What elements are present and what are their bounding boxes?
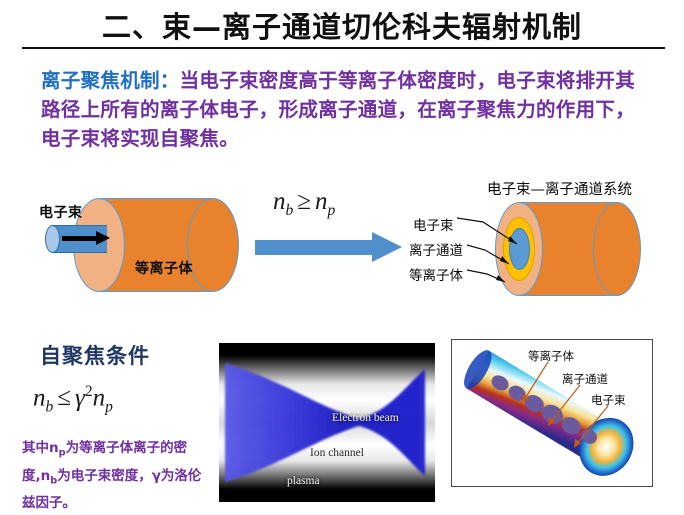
- tube-label-plasma: 等离子体: [528, 348, 574, 364]
- selffocus-gamma-symbol: γ: [75, 384, 85, 411]
- right-arrow-icon: [255, 232, 410, 262]
- selffocus-formula: nb≤γ2np: [33, 383, 113, 416]
- electron-beam-cap: [45, 225, 60, 253]
- title-divider: [22, 47, 665, 49]
- formula-sub-p: p: [327, 202, 335, 219]
- page-title: 二、束—离子通道切伦科夫辐射机制: [0, 4, 684, 46]
- figure-beam-into-plasma: 等离子体 电子束: [25, 180, 275, 310]
- figure-3d-ion-channel-tube: 等离子体 离子通道 电子束: [451, 339, 653, 487]
- system-label-plasma: 等离子体: [409, 264, 463, 284]
- note-part-1: 其中n: [22, 440, 59, 456]
- ring-electron-beam-core: [509, 228, 530, 270]
- figure-beam-ion-channel-system: 电子束—离子通道系统 电子束 离子通道 等离子体: [405, 178, 675, 313]
- system-label-electron-beam: 电子束: [413, 214, 454, 234]
- arrow-shaft: [255, 240, 373, 255]
- selffocus-operator: ≤: [53, 384, 75, 411]
- simulation-label-ion-channel: Ion channel: [310, 447, 364, 459]
- condition-and-arrow-group: nb≥np: [255, 188, 415, 268]
- system-label-ion-channel: 离子通道: [409, 239, 463, 259]
- density-condition-formula: nb≥np: [273, 188, 335, 220]
- plasma-label: 等离子体: [135, 258, 193, 278]
- mechanism-lead-label: 离子聚焦机制：: [41, 69, 180, 92]
- selffocus-exponent: 2: [85, 383, 93, 400]
- simulation-electron-beam: [219, 343, 435, 502]
- selffocus-heading: 自聚焦条件: [40, 340, 150, 370]
- plasma-cylinder-right-cap: [187, 198, 239, 292]
- arrow-head: [372, 232, 402, 262]
- simulation-label-plasma: plasma: [287, 475, 320, 487]
- formula-n-b-symbol: n: [273, 188, 286, 215]
- beam-direction-arrow-shaft: [62, 236, 100, 241]
- mechanism-paragraph: 离子聚焦机制：当电子束密度高于等离子体密度时，电子束将排开其路径上所有的离子体电…: [41, 66, 653, 153]
- beam-direction-arrow-icon: [96, 231, 110, 245]
- selffocus-n-b-symbol: n: [33, 384, 46, 411]
- figure-beam-simulation: Electron beam Ion channel plasma: [219, 343, 435, 502]
- tube-label-ion-channel: 离子通道: [562, 371, 608, 387]
- simulation-label-electron-beam: Electron beam: [332, 412, 399, 424]
- selffocus-sub-p: p: [105, 398, 113, 415]
- selffocus-n-p-symbol: n: [93, 384, 106, 411]
- tube-label-electron-beam: 电子束: [591, 392, 626, 408]
- note-sub-p: p: [59, 448, 66, 459]
- system-cylinder-right-cap: [593, 202, 641, 296]
- electron-beam-label: 电子束: [39, 202, 83, 222]
- formula-n-p-symbol: n: [315, 188, 328, 215]
- selffocus-note: 其中np为等离子体离子的密度,nb为电子束密度，γ为洛伦兹因子。: [22, 437, 212, 514]
- system-caption: 电子束—离子通道系统: [487, 178, 632, 199]
- formula-operator: ≥: [293, 188, 315, 215]
